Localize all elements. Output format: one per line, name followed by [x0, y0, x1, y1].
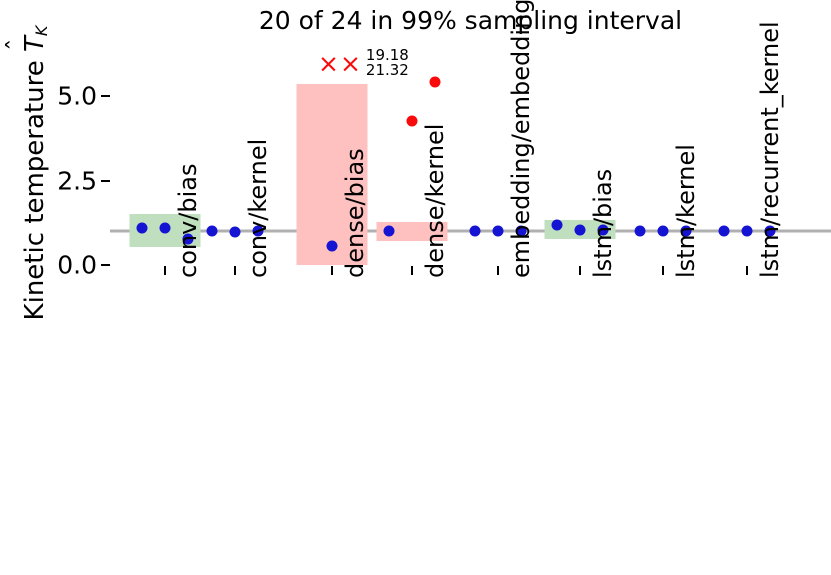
y-axis-tick-label: 5.0: [57, 82, 97, 111]
hat-accent: ˆ: [5, 39, 30, 51]
outlier-value-list: 19.18 21.32: [366, 48, 409, 79]
data-point: [742, 226, 753, 237]
x-axis-tick-label: dense/kernel: [421, 124, 449, 278]
y-axis-tick-mark: [101, 180, 110, 182]
outlier-value: 21.32: [366, 63, 409, 78]
y-axis-label-subscript: K: [32, 26, 51, 37]
x-axis-tick-label: lstm/recurrent_kernel: [756, 21, 784, 278]
figure-canvas: 20 of 24 in 99% sampling interval Kineti…: [0, 0, 831, 575]
data-point: [470, 226, 481, 237]
x-axis-tick-mark: [662, 266, 664, 275]
outlier-data-point: [407, 116, 418, 127]
plot-area: 0.02.55.0conv/biasconv/kerneldense/biasd…: [110, 40, 831, 266]
x-axis-tick-mark: [164, 266, 166, 275]
data-point: [207, 226, 218, 237]
x-axis-tick-label: lstm/bias: [589, 169, 617, 278]
data-point: [384, 226, 395, 237]
x-axis-tick-label: conv/kernel: [244, 139, 272, 278]
x-axis-tick-mark: [579, 266, 581, 275]
y-axis-tick-mark: [101, 264, 110, 266]
y-axis-label-prefix: Kinetic temperature: [20, 52, 50, 320]
x-axis-tick-mark: [234, 266, 236, 275]
data-point: [658, 226, 669, 237]
y-axis-tick-label: 0.0: [57, 251, 97, 280]
x-axis-tick-label: embedding/embeddings: [507, 0, 535, 278]
data-point: [719, 226, 730, 237]
x-axis-tick-label: conv/bias: [174, 164, 202, 279]
data-point: [327, 241, 338, 252]
data-point: [635, 226, 646, 237]
data-point: [160, 222, 171, 233]
data-point: [493, 226, 504, 237]
y-axis-tick-label: 2.5: [57, 166, 97, 195]
y-axis-tick-mark: [101, 95, 110, 97]
x-axis-tick-label: dense/bias: [341, 148, 369, 278]
x-axis-tick-mark: [331, 266, 333, 275]
outlier-cross-markers-icon: ××: [318, 51, 362, 76]
chart-title: 20 of 24 in 99% sampling interval: [110, 6, 831, 35]
x-axis-tick-mark: [411, 266, 413, 275]
x-axis-tick-label: lstm/kernel: [672, 144, 700, 278]
outlier-data-point: [430, 77, 441, 88]
y-axis-label-symbol: ˆT: [20, 36, 50, 52]
x-axis-tick-mark: [497, 266, 499, 275]
x-axis-tick-mark: [746, 266, 748, 275]
data-point: [575, 225, 586, 236]
offscale-outlier-annotation: ×× 19.18 21.32: [318, 48, 409, 79]
y-axis-label: Kinetic temperature ˆTK: [20, 13, 56, 333]
data-point: [137, 223, 148, 234]
data-point: [230, 226, 241, 237]
data-point: [552, 220, 563, 231]
